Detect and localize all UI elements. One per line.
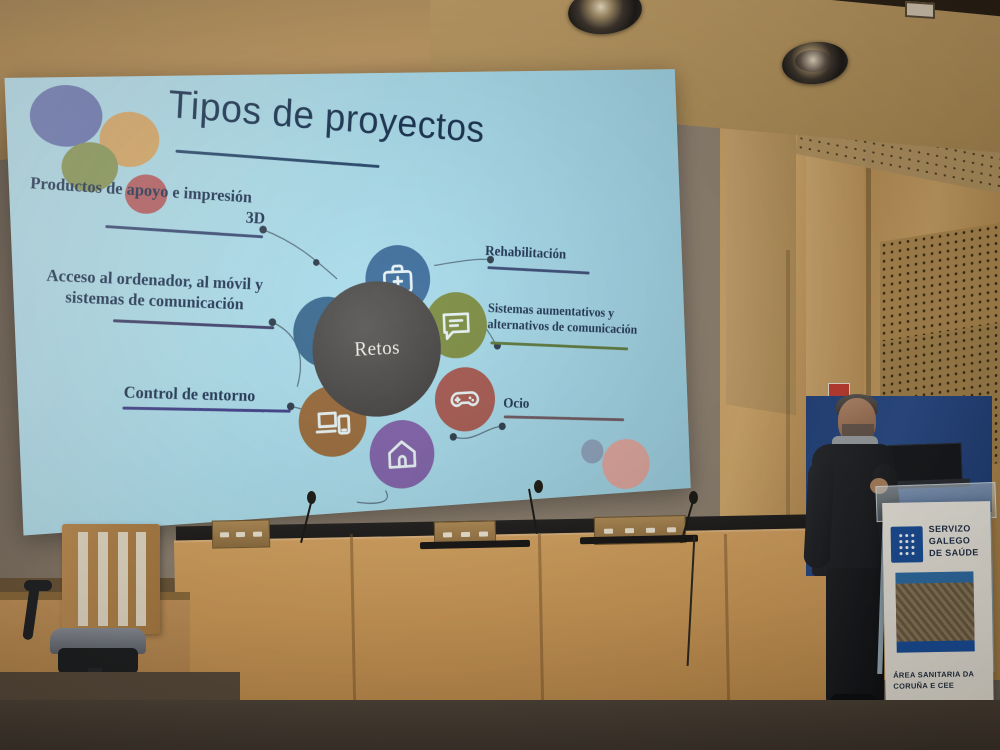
laptop-screen [887,443,962,484]
speaker-legs [826,568,884,704]
floor [0,700,1000,750]
banner-footer-line1: ÁREA SANITARIA DA [893,669,985,681]
screen-glare [4,69,690,535]
presentation-slide: Tipos de proyectos [4,69,690,535]
rollup-banner: SERVIZO GALEGO DE SAÚDE ÁREA SANITARIA D… [882,501,994,715]
banner-footer-text: ÁREA SANITARIA DA CORUÑA E CEE [893,669,985,692]
banner-org-line1: SERVIZO [929,523,979,536]
chair-backrest-slots [72,532,152,626]
conference-photo-scene: Tipos de proyectos [0,0,1000,750]
nameplate-holder [212,519,271,548]
banner-organisation-name: SERVIZO GALEGO DE SAÚDE [929,523,979,559]
ceiling-vent-icon [905,1,935,19]
ceiling-spotlight-lens [795,50,831,72]
projection-screen: Tipos de proyectos [4,69,690,535]
banner-org-line2: GALEGO [929,535,979,548]
banner-photo [895,571,974,652]
banner-footer-line2: CORUÑA E CEE [893,680,985,692]
banner-org-line3: DE SAÚDE [929,547,979,560]
speaker-arm-left [803,461,835,568]
xunta-galicia-logo-icon [891,526,924,563]
